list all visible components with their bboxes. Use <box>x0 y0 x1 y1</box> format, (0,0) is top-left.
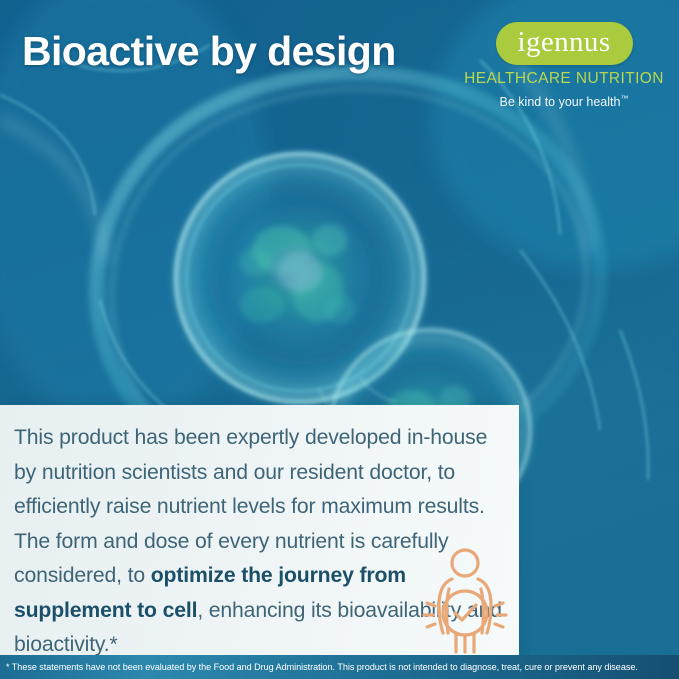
product-infographic-canvas: Bioactive by design igennus HEALTHCARE N… <box>0 0 679 679</box>
logo-pill: igennus <box>496 22 633 65</box>
logo-tagline: Be kind to your health™ <box>459 94 669 109</box>
trademark-symbol: ™ <box>620 94 628 103</box>
description-panel: This product has been expertly developed… <box>0 405 519 655</box>
logo-tagline-text: Be kind to your health <box>500 95 621 109</box>
logo-brand-name: igennus <box>517 28 610 57</box>
person-with-check-belly-icon <box>415 543 515 655</box>
header: Bioactive by design igennus HEALTHCARE N… <box>0 0 679 130</box>
logo-subtitle: HEALTHCARE NUTRITION <box>459 70 669 88</box>
page-title: Bioactive by design <box>22 28 396 75</box>
brand-logo[interactable]: igennus HEALTHCARE NUTRITION Be kind to … <box>459 22 669 109</box>
fda-disclaimer-bar: * These statements have not been evaluat… <box>0 655 679 679</box>
fda-disclaimer-text: * These statements have not been evaluat… <box>0 662 638 672</box>
